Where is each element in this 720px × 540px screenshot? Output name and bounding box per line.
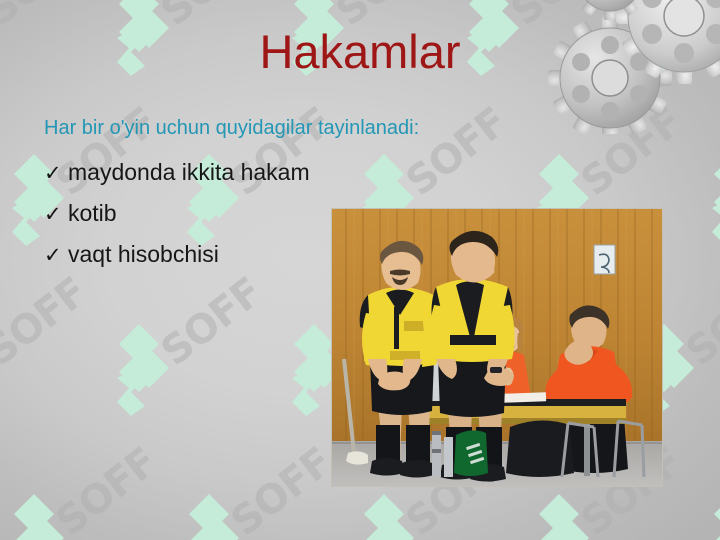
watermark-text: SOFF	[573, 99, 691, 205]
slide: SOFFSOFFSOFFSOFFSOFFSOFFSOFFSOFFSOFFSOFF…	[0, 0, 720, 540]
soff-logo-icon	[10, 494, 68, 540]
watermark-text: SOFF	[678, 269, 720, 375]
watermark-tile: SOFF	[710, 470, 720, 540]
watermark-tile: SOFF	[0, 300, 170, 470]
watermark-tile: SOFF	[10, 470, 240, 540]
watermark-tile: SOFF	[115, 300, 345, 470]
watermark-text: SOFF	[0, 269, 96, 375]
soff-logo-icon	[535, 494, 593, 540]
watermark-tile: SOFF	[710, 130, 720, 300]
soff-logo-icon	[185, 494, 243, 540]
watermark-text: SOFF	[223, 439, 341, 540]
referees-photo	[331, 208, 663, 487]
soff-logo-icon	[710, 154, 720, 246]
list-item: ✓ maydonda ikkita hakam	[44, 152, 310, 193]
watermark-text: SOFF	[153, 269, 271, 375]
checkmark-icon: ✓	[44, 153, 68, 194]
soff-logo-icon	[710, 494, 720, 540]
subtitle-text: Har bir o'yin uchun quyidagilar tayinlan…	[44, 115, 419, 141]
soff-logo-icon	[360, 494, 418, 540]
watermark-text: SOFF	[48, 439, 166, 540]
checkmark-icon: ✓	[44, 235, 68, 276]
bullet-list: ✓ maydonda ikkita hakam ✓ kotib ✓ vaqt h…	[44, 152, 310, 275]
list-item-label: kotib	[68, 193, 117, 234]
page-title: Hakamlar	[0, 24, 720, 80]
soff-logo-icon	[115, 324, 173, 416]
list-item-label: maydonda ikkita hakam	[68, 152, 310, 193]
checkmark-icon: ✓	[44, 194, 68, 235]
list-item-label: vaqt hisobchisi	[68, 234, 219, 275]
list-item: ✓ vaqt hisobchisi	[44, 234, 310, 275]
list-item: ✓ kotib	[44, 193, 310, 234]
